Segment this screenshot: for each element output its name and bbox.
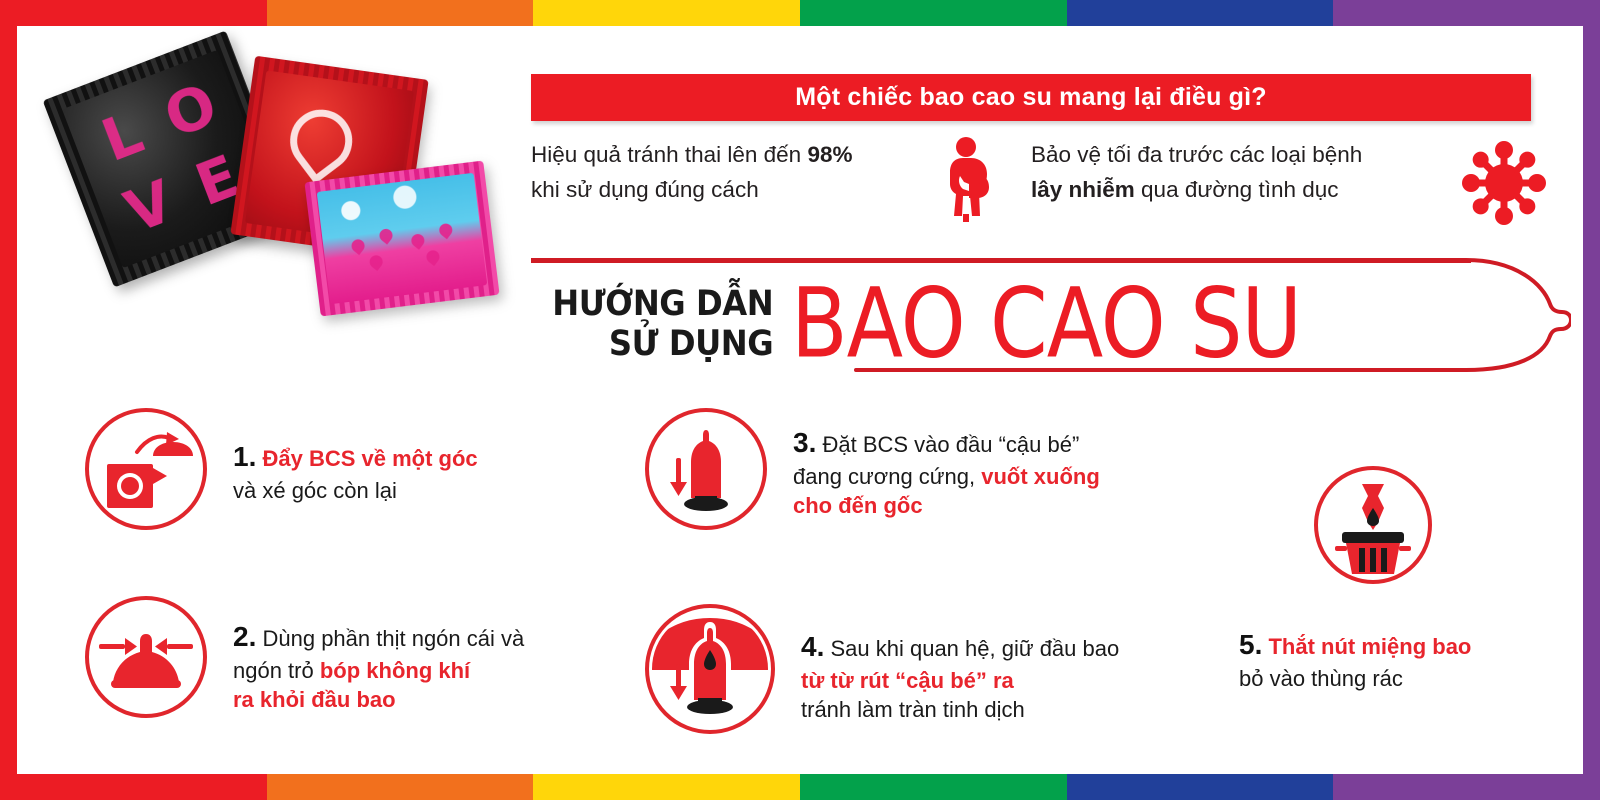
- step-3-number: 3.: [793, 427, 816, 458]
- main-title-right: BAO CAO SU: [791, 279, 1301, 370]
- condom-packets-photo: LOVE: [62, 51, 482, 321]
- benefit-sti-line2-bold: lây nhiễm: [1031, 177, 1135, 202]
- rainbow-swatch-yellow: [533, 0, 800, 26]
- step-1-line2: và xé góc còn lại: [233, 478, 397, 503]
- pregnant-woman-icon: [936, 136, 996, 222]
- rainbow-swatch-purple: [1333, 0, 1600, 26]
- rainbow-swatch-green: [800, 774, 1067, 800]
- condom-roll-down-icon: [649, 412, 763, 526]
- rainbow-border-bottom: [0, 774, 1600, 800]
- header-title: Một chiếc bao cao su mang lại điều gì?: [795, 83, 1267, 112]
- rainbow-swatch-orange: [267, 774, 534, 800]
- step-3-line2-plain: đang cương cứng,: [793, 464, 981, 489]
- header-bar: Một chiếc bao cao su mang lại điều gì?: [531, 74, 1531, 121]
- benefit-pregnancy-line1-plain: Hiệu quả tránh thai lên đến: [531, 142, 807, 167]
- pinch-tip-arrows-icon: [89, 600, 203, 714]
- virus-icon: [1461, 140, 1547, 226]
- tied-condom-trash-icon: [1318, 470, 1428, 580]
- benefits-row: Hiệu quả tránh thai lên đến 98% khi sử d…: [531, 138, 1581, 228]
- rainbow-swatch-orange: [267, 0, 534, 26]
- step-2-number: 2.: [233, 621, 256, 652]
- infographic-poster: LOVE: [0, 0, 1600, 800]
- hearts-pattern: [317, 173, 488, 304]
- condom-packet-tear-icon: [89, 412, 203, 526]
- step-3-line1: Đặt BCS vào đầu “cậu bé”: [822, 432, 1079, 457]
- step-2-text: 2. Dùng phần thịt ngón cái và ngón trỏ b…: [233, 618, 524, 714]
- step-4: 4. Sau khi quan hệ, giữ đầu bao từ từ rú…: [645, 604, 1119, 734]
- step-5-line1: Thắt nút miệng bao: [1268, 634, 1471, 659]
- benefit-pregnancy: Hiệu quả tránh thai lên đến 98% khi sử d…: [531, 138, 961, 208]
- benefit-sti: Bảo vệ tối đa trước các loại bệnh lây nh…: [1031, 138, 1481, 208]
- step-4-text: 4. Sau khi quan hệ, giữ đầu bao từ từ rú…: [801, 628, 1119, 724]
- rainbow-border-right: [1583, 0, 1600, 800]
- step-4-line1: Sau khi quan hệ, giữ đầu bao: [830, 636, 1119, 661]
- step-4-number: 4.: [801, 631, 824, 662]
- step-1: 1. Đẩy BCS về một góc và xé góc còn lại: [85, 408, 478, 530]
- step-4-line3: tránh làm tràn tinh dịch: [801, 697, 1025, 722]
- rainbow-swatch-blue: [1067, 0, 1334, 26]
- step-1-icon-circle: [85, 408, 207, 530]
- step-5-text: 5. Thắt nút miệng bao bỏ vào thùng rác: [1239, 626, 1471, 693]
- step-3: 3. Đặt BCS vào đầu “cậu bé” đang cương c…: [645, 408, 1100, 530]
- step-5: [1314, 466, 1432, 584]
- step-5-line2: bỏ vào thùng rác: [1239, 666, 1403, 691]
- step-1-line1: Đẩy BCS về một góc: [262, 446, 477, 471]
- step-1-text: 1. Đẩy BCS về một góc và xé góc còn lại: [233, 438, 478, 505]
- benefit-sti-line1: Bảo vệ tối đa trước các loại bệnh: [1031, 142, 1362, 167]
- step-1-number: 1.: [233, 441, 256, 472]
- step-3-line2-hi: vuốt xuống: [981, 464, 1100, 489]
- rainbow-swatch-yellow: [533, 774, 800, 800]
- step-2-line2-plain: ngón trỏ: [233, 658, 320, 683]
- benefit-pregnancy-text: Hiệu quả tránh thai lên đến 98% khi sử d…: [531, 138, 853, 208]
- heart-icon: [278, 97, 365, 184]
- packet-blue: [304, 161, 499, 317]
- step-4-line2: từ từ rút “cậu bé” ra: [801, 668, 1014, 693]
- step-2: 2. Dùng phần thịt ngón cái và ngón trỏ b…: [85, 596, 524, 718]
- step-2-icon-circle: [85, 596, 207, 718]
- step-5-number: 5.: [1239, 629, 1262, 660]
- rainbow-swatch-red: [0, 774, 267, 800]
- benefit-pregnancy-line1-bold: 98%: [807, 142, 852, 167]
- step-5-icon-circle: [1314, 466, 1432, 584]
- main-title: HƯỚNG DẪN SỬ DỤNG BAO CAO SU: [533, 284, 1323, 366]
- rainbow-swatch-purple: [1333, 774, 1600, 800]
- rainbow-border-left: [0, 0, 17, 800]
- step-3-line3: cho đến gốc: [793, 493, 923, 518]
- main-title-left-line1: HƯỚNG DẪN: [552, 285, 773, 325]
- rainbow-swatch-red: [0, 0, 267, 26]
- benefit-pregnancy-line2: khi sử dụng đúng cách: [531, 177, 759, 202]
- step-4-icon-circle: [645, 604, 775, 734]
- step-3-icon-circle: [645, 408, 767, 530]
- step-3-text: 3. Đặt BCS vào đầu “cậu bé” đang cương c…: [793, 424, 1100, 520]
- benefit-sti-text: Bảo vệ tối đa trước các loại bệnh lây nh…: [1031, 138, 1362, 208]
- main-title-left: HƯỚNG DẪN SỬ DỤNG: [552, 285, 773, 365]
- rainbow-swatch-green: [800, 0, 1067, 26]
- section-divider: [531, 259, 1471, 263]
- benefit-sti-line2-plain: qua đường tình dục: [1135, 177, 1339, 202]
- rainbow-swatch-blue: [1067, 774, 1334, 800]
- step-2-line1: Dùng phần thịt ngón cái và: [262, 626, 524, 651]
- step-2-line2-hi: bóp không khí: [320, 658, 470, 683]
- condom-withdraw-icon: [649, 608, 771, 730]
- poster-canvas: LOVE: [17, 26, 1583, 774]
- step-2-line3: ra khỏi đầu bao: [233, 687, 396, 712]
- main-title-left-line2: SỬ DỤNG: [552, 325, 773, 365]
- rainbow-border-top: [0, 0, 1600, 26]
